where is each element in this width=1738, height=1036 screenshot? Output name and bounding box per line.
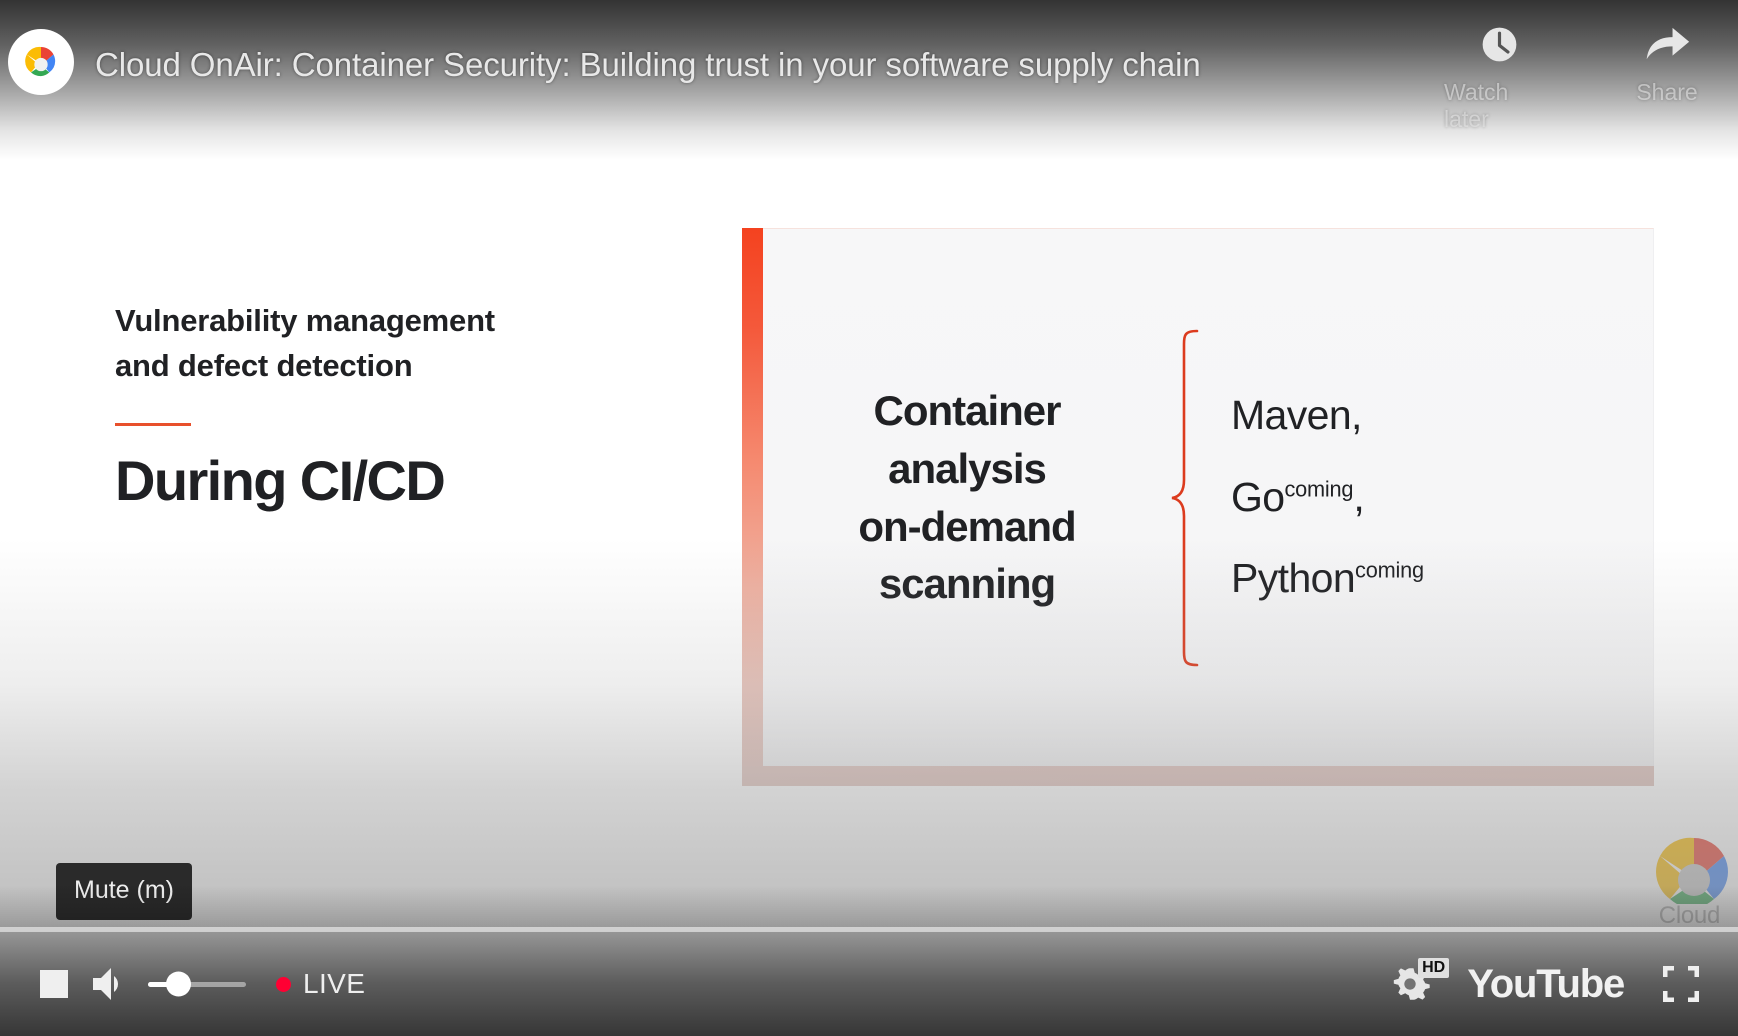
accent-rule <box>115 423 191 426</box>
slide-headline: During CI/CD <box>115 452 635 511</box>
panel-accent-bar-bottom <box>742 766 1654 786</box>
live-label: LIVE <box>303 968 365 1000</box>
clock-icon <box>1477 22 1522 67</box>
quality-badge: HD <box>1418 958 1449 978</box>
curly-brace-icon <box>1167 328 1207 668</box>
list-item-sup: coming <box>1285 476 1354 501</box>
live-dot-icon <box>276 977 291 992</box>
watch-later-button[interactable]: Watch later <box>1444 22 1554 133</box>
panel-lead-text: Container analysis on-demand scanning <box>781 382 1153 614</box>
right-controls: HD YouTube <box>1379 932 1712 1036</box>
panel-item-list: Maven, Gocoming, Pythoncoming <box>1231 395 1424 600</box>
panel-body: Container analysis on-demand scanning Ma… <box>763 228 1654 766</box>
slide-watermark-word: Cloud <box>1659 902 1720 930</box>
list-item: Maven, <box>1231 395 1424 437</box>
slide-eyebrow: Vulnerability management and defect dete… <box>115 298 635 389</box>
panel-accent-bar-left <box>742 228 763 786</box>
top-actions: Watch later Share <box>1444 22 1722 133</box>
mute-tooltip: Mute (m) <box>56 863 192 920</box>
speaker-volume-icon <box>89 964 131 1004</box>
video-slide: Vulnerability management and defect dete… <box>0 0 1738 1036</box>
stop-square-icon <box>38 968 70 1000</box>
slide-eyebrow-line-1: Vulnerability management <box>115 298 635 343</box>
slide-eyebrow-line-2: and defect detection <box>115 343 635 388</box>
stop-button[interactable] <box>26 932 82 1036</box>
panel-lead-line-4: scanning <box>781 555 1153 613</box>
mute-button[interactable] <box>82 932 138 1036</box>
panel-lead-line-3: on-demand <box>781 498 1153 556</box>
volume-knob[interactable] <box>166 972 191 997</box>
player-top-bar: Cloud OnAir: Container Security: Buildin… <box>0 0 1738 132</box>
share-arrow-icon <box>1643 22 1691 67</box>
share-button[interactable]: Share <box>1612 22 1722 133</box>
list-item-sup: coming <box>1355 558 1424 583</box>
panel-lead-line-1: Container <box>781 382 1153 440</box>
channel-avatar[interactable] <box>8 29 74 95</box>
list-item-name: Maven, <box>1231 392 1362 438</box>
live-badge[interactable]: LIVE <box>276 932 365 1036</box>
fullscreen-button[interactable] <box>1650 932 1712 1036</box>
panel-lead-line-2: analysis <box>781 440 1153 498</box>
player-controls: LIVE HD YouTube <box>0 932 1738 1036</box>
list-item-suffix: , <box>1353 474 1364 520</box>
youtube-player: Vulnerability management and defect dete… <box>0 0 1738 1036</box>
list-item-name: Go <box>1231 474 1285 520</box>
video-title[interactable]: Cloud OnAir: Container Security: Buildin… <box>95 46 1201 84</box>
list-item: Gocoming, <box>1231 477 1424 519</box>
list-item: Pythoncoming <box>1231 558 1424 600</box>
youtube-wordmark[interactable]: YouTube <box>1449 962 1642 1007</box>
fullscreen-icon <box>1661 964 1701 1004</box>
watch-later-label: Watch later <box>1444 79 1554 133</box>
volume-slider[interactable] <box>148 932 246 1036</box>
share-label: Share <box>1636 79 1697 106</box>
google-cloud-logo-icon <box>1634 824 1730 904</box>
slide-left-column: Vulnerability management and defect dete… <box>115 298 635 510</box>
settings-button[interactable]: HD <box>1379 932 1441 1036</box>
google-cloud-logo-icon <box>16 41 66 83</box>
volume-track <box>148 982 246 987</box>
list-item-name: Python <box>1231 555 1355 601</box>
slide-panel: Container analysis on-demand scanning Ma… <box>742 228 1654 786</box>
